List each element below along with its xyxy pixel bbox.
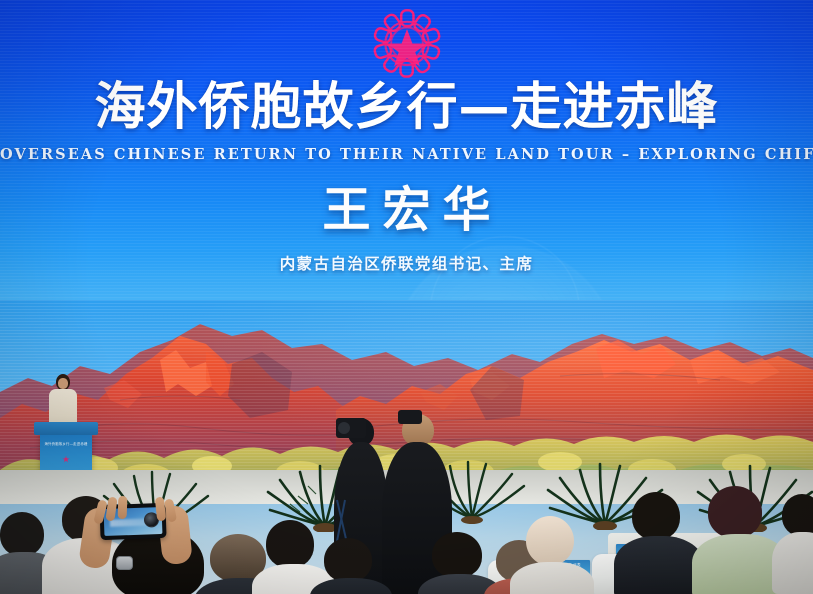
audience-head — [432, 532, 482, 578]
audience-member — [778, 494, 813, 594]
podium-emblem-icon — [62, 455, 71, 464]
event-title-chinese: 海外侨胞故乡行—走进赤峰 — [0, 82, 813, 133]
audience-head — [708, 486, 762, 538]
audience-member — [624, 492, 690, 594]
federation-logo-container — [0, 6, 813, 78]
audience-shoulders — [310, 578, 392, 594]
finger — [118, 496, 128, 519]
audience-member — [318, 538, 380, 594]
audience-member — [426, 532, 490, 594]
speaker-name: 王宏华 — [0, 186, 813, 234]
audience-head — [632, 492, 680, 540]
audience-shoulders — [772, 532, 813, 594]
audience-member — [516, 516, 582, 594]
audience-shoulders — [510, 562, 594, 594]
overseas-chinese-federation-knot-logo — [369, 6, 445, 78]
audience-head — [266, 520, 314, 568]
handheld-camera — [398, 410, 422, 424]
conference-stage-scene: 海外侨胞故乡行—走进赤峰 OVERSEAS CHINESE RETURN TO … — [0, 0, 813, 594]
wristwatch — [116, 556, 133, 570]
podium-top-surface — [34, 422, 98, 435]
audience-head — [0, 512, 44, 556]
audience-member — [700, 486, 774, 594]
audience-shoulders — [614, 536, 704, 594]
audience-head — [782, 494, 813, 536]
speaker-title: 内蒙古自治区侨联党组书记、主席 — [0, 252, 813, 274]
audience-head — [526, 516, 574, 566]
event-title-english: OVERSEAS CHINESE RETURN TO THEIR NATIVE … — [0, 146, 813, 163]
camera-lens-icon — [338, 422, 350, 434]
speaker-face — [58, 378, 68, 389]
audience-head — [324, 538, 372, 582]
audience-member — [262, 520, 322, 594]
podium-banner-text: 海外侨胞故乡行—走进赤峰 — [42, 438, 90, 448]
